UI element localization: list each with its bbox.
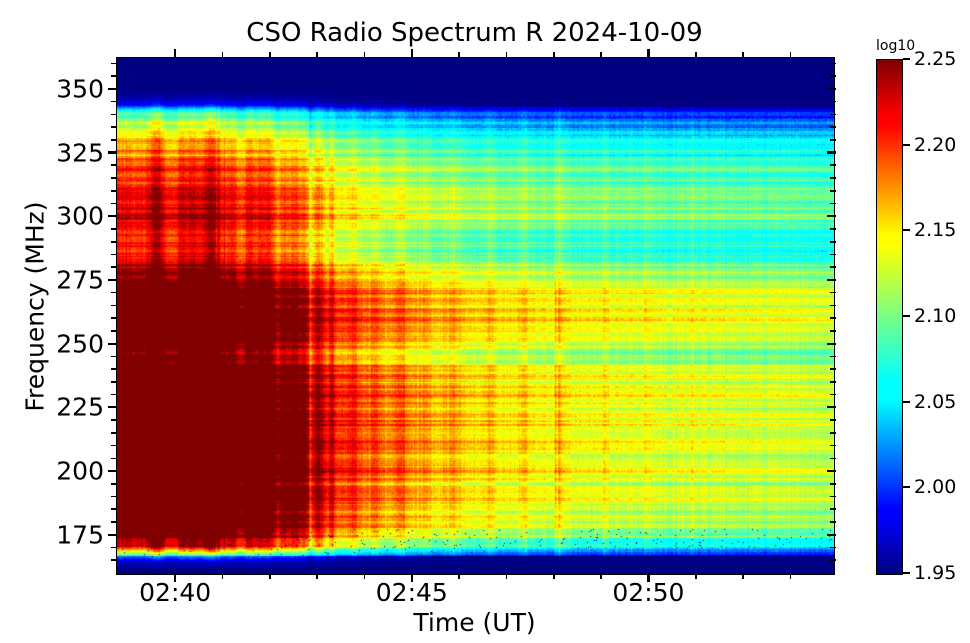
x-tick-minor-top: [364, 52, 366, 58]
y-tick-minor: [111, 356, 117, 358]
x-tick-minor-top: [553, 52, 555, 58]
colorbar-gradient: [877, 60, 902, 574]
y-tick-minor: [111, 458, 117, 460]
x-tick-label: 02:40: [139, 578, 211, 607]
x-tick-minor-top: [742, 52, 744, 58]
y-tick-minor-right: [830, 419, 836, 421]
x-tick-minor: [742, 573, 744, 579]
colorbar-tick: [903, 572, 910, 574]
y-tick-minor-right: [830, 508, 836, 510]
y-tick-label: 300: [56, 202, 104, 231]
y-axis-tick-labels: 175200225250275300325350: [0, 57, 104, 573]
y-tick-minor-right: [830, 101, 836, 103]
y-tick-major: [108, 88, 117, 90]
y-tick-minor: [111, 266, 117, 268]
y-tick-minor: [111, 381, 117, 383]
y-tick-minor-right: [830, 75, 836, 77]
y-tick-minor-right: [830, 254, 836, 256]
y-tick-minor-right: [830, 458, 836, 460]
y-tick-label: 325: [56, 138, 104, 167]
x-tick-minor-top: [695, 52, 697, 58]
y-tick-minor-right: [830, 381, 836, 383]
y-tick-minor: [111, 419, 117, 421]
x-tick-label: 02:50: [612, 578, 684, 607]
y-tick-major-right: [827, 343, 836, 345]
y-tick-major-right: [827, 151, 836, 153]
y-tick-minor: [111, 63, 117, 65]
x-tick-minor: [364, 573, 366, 579]
y-tick-minor: [111, 483, 117, 485]
y-tick-minor: [111, 126, 117, 128]
y-tick-minor-right: [830, 305, 836, 307]
y-tick-minor: [111, 508, 117, 510]
y-tick-minor-right: [830, 241, 836, 243]
x-tick-minor: [458, 573, 460, 579]
y-tick-label: 350: [56, 74, 104, 103]
colorbar-tick: [903, 315, 910, 317]
x-tick-major-top: [174, 49, 176, 58]
y-tick-label: 225: [56, 393, 104, 422]
y-tick-minor-right: [830, 292, 836, 294]
y-tick-major-right: [827, 470, 836, 472]
y-tick-minor-right: [830, 203, 836, 205]
y-tick-minor: [111, 241, 117, 243]
x-tick-minor-top: [600, 52, 602, 58]
x-tick-minor-top: [316, 52, 318, 58]
x-tick-minor: [600, 573, 602, 579]
x-tick-minor-top: [506, 52, 508, 58]
radio-spectrum-figure: CSO Radio Spectrum R 2024-10-09 17520022…: [0, 0, 970, 643]
colorbar-tick: [903, 58, 910, 60]
colorbar-title: log10: [876, 38, 915, 54]
y-tick-minor-right: [830, 177, 836, 179]
x-tick-minor: [553, 573, 555, 579]
y-tick-minor: [111, 164, 117, 166]
y-tick-minor-right: [830, 483, 836, 485]
y-tick-minor-right: [830, 139, 836, 141]
y-tick-minor: [111, 394, 117, 396]
y-tick-major: [108, 279, 117, 281]
y-tick-major: [108, 534, 117, 536]
y-tick-label: 175: [56, 520, 104, 549]
y-tick-minor: [111, 139, 117, 141]
y-tick-minor: [111, 368, 117, 370]
y-tick-minor-right: [830, 317, 836, 319]
y-tick-minor: [111, 432, 117, 434]
y-tick-minor-right: [830, 114, 836, 116]
y-tick-minor-right: [830, 445, 836, 447]
colorbar-tick-label: 2.05: [914, 391, 956, 413]
y-tick-minor-right: [830, 126, 836, 128]
y-tick-minor: [111, 254, 117, 256]
y-tick-minor: [111, 101, 117, 103]
y-tick-minor-right: [830, 330, 836, 332]
y-tick-minor: [111, 317, 117, 319]
y-tick-minor: [111, 114, 117, 116]
x-tick-minor: [695, 573, 697, 579]
colorbar-tick-label: 1.95: [914, 562, 956, 584]
x-tick-major-top: [647, 49, 649, 58]
x-axis-label: Time (UT): [116, 608, 833, 637]
y-tick-minor: [111, 203, 117, 205]
colorbar-tick: [903, 486, 910, 488]
y-tick-minor-right: [830, 559, 836, 561]
y-tick-minor-right: [830, 63, 836, 65]
y-tick-minor-right: [830, 356, 836, 358]
y-tick-major: [108, 151, 117, 153]
y-tick-minor: [111, 190, 117, 192]
y-tick-minor: [111, 521, 117, 523]
y-tick-minor: [111, 330, 117, 332]
y-tick-major: [108, 215, 117, 217]
y-tick-minor: [111, 559, 117, 561]
y-tick-major: [108, 343, 117, 345]
colorbar-tick-label: 2.25: [914, 48, 956, 70]
x-tick-minor: [316, 573, 318, 579]
y-tick-label: 200: [56, 457, 104, 486]
y-tick-minor: [111, 75, 117, 77]
y-tick-minor-right: [830, 228, 836, 230]
y-tick-major-right: [827, 215, 836, 217]
spectrogram-plot-area[interactable]: [116, 57, 835, 575]
y-tick-major-right: [827, 88, 836, 90]
y-tick-label: 250: [56, 329, 104, 358]
y-tick-major-right: [827, 534, 836, 536]
y-tick-minor-right: [830, 368, 836, 370]
colorbar-tick-label: 2.15: [914, 219, 956, 241]
y-tick-minor: [111, 445, 117, 447]
page-title: CSO Radio Spectrum R 2024-10-09: [116, 18, 833, 48]
colorbar-tick-label: 2.10: [914, 305, 956, 327]
x-tick-minor-top: [222, 52, 224, 58]
y-tick-label: 275: [56, 265, 104, 294]
colorbar-tick-label: 2.00: [914, 476, 956, 498]
y-tick-major: [108, 470, 117, 472]
y-tick-minor: [111, 177, 117, 179]
colorbar-tick: [903, 229, 910, 231]
y-tick-major: [108, 406, 117, 408]
spectrogram-image: [117, 58, 834, 574]
colorbar[interactable]: [876, 59, 903, 575]
x-tick-minor: [269, 573, 271, 579]
colorbar-tick-label: 2.20: [914, 134, 956, 156]
y-tick-minor-right: [830, 394, 836, 396]
y-tick-minor: [111, 305, 117, 307]
x-tick-minor-top: [269, 52, 271, 58]
y-tick-minor: [111, 547, 117, 549]
x-tick-minor: [790, 573, 792, 579]
y-tick-minor: [111, 228, 117, 230]
y-tick-minor-right: [830, 190, 836, 192]
y-tick-minor-right: [830, 496, 836, 498]
y-tick-major-right: [827, 406, 836, 408]
colorbar-tick: [903, 401, 910, 403]
y-tick-minor: [111, 496, 117, 498]
y-tick-minor-right: [830, 432, 836, 434]
x-tick-minor: [222, 573, 224, 579]
x-tick-major-top: [411, 49, 413, 58]
y-tick-minor: [111, 292, 117, 294]
x-tick-minor: [506, 573, 508, 579]
y-axis-label: Frequency (MHz): [21, 47, 50, 567]
y-tick-minor-right: [830, 164, 836, 166]
colorbar-tick: [903, 144, 910, 146]
y-tick-minor-right: [830, 521, 836, 523]
x-tick-minor-top: [458, 52, 460, 58]
y-tick-major-right: [827, 279, 836, 281]
x-tick-label: 02:45: [376, 578, 448, 607]
y-tick-minor-right: [830, 266, 836, 268]
y-tick-minor-right: [830, 547, 836, 549]
x-tick-minor-top: [790, 52, 792, 58]
